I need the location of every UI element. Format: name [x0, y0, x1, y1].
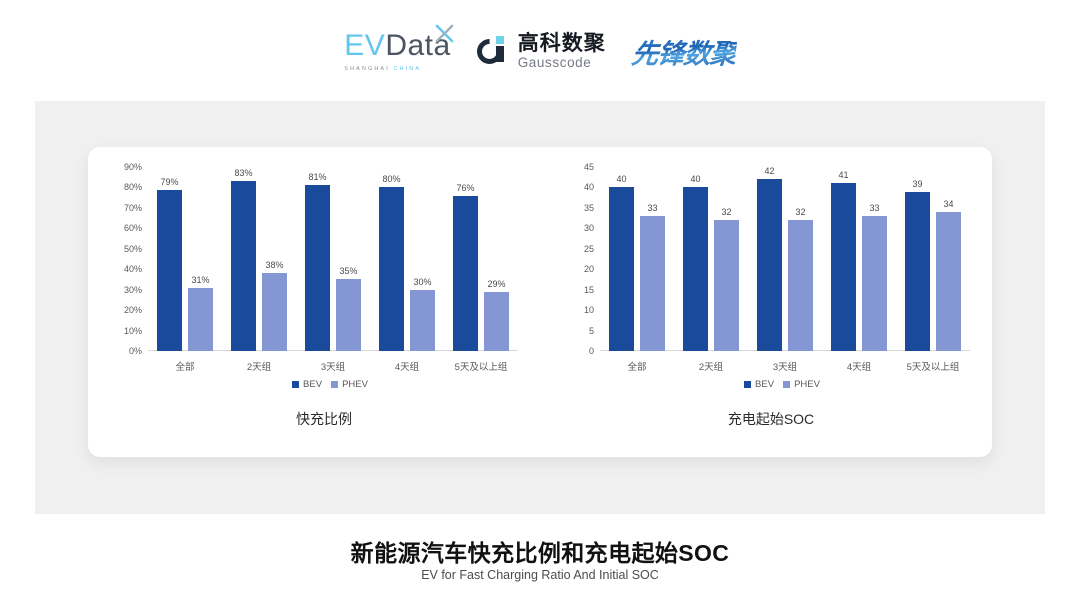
- bar-rect: [379, 187, 404, 351]
- bar-rect: [231, 181, 256, 351]
- legend-swatch-phev-icon: [331, 381, 338, 388]
- bar-phev[interactable]: 32: [788, 167, 813, 351]
- plot-area-left: 快充占比 79%31%83%38%81%35%80%30%76%29% 90%8…: [148, 167, 518, 351]
- chart-title-left: 快充比例: [88, 409, 540, 429]
- x-axis-tick: 5天及以上组: [444, 359, 518, 373]
- bar-value-label: 34: [943, 199, 953, 209]
- gausscode-chinese-name: 高科数聚: [518, 33, 606, 54]
- page-subtitle: EV for Fast Charging Ratio And Initial S…: [0, 568, 1080, 582]
- bar-rect: [262, 273, 287, 351]
- bar-rect: [714, 220, 739, 351]
- x-axis-tick: 3天组: [748, 359, 822, 373]
- bar-group: 3934: [896, 167, 970, 351]
- bar-group: 81%35%: [296, 167, 370, 351]
- bar-rect: [188, 288, 213, 351]
- bar-groups-right: 40334032423241333934: [600, 167, 970, 351]
- x-axis-ticks-right: 全部2天组3天组4天组5天及以上组: [600, 359, 970, 373]
- bar-value-label: 41: [838, 170, 848, 180]
- bar-value-label: 83%: [234, 168, 252, 178]
- bar-value-label: 33: [647, 203, 657, 213]
- logo-bar: EVData SHANGHAI CHINA 高科数聚 Gausscode 先锋数…: [0, 22, 1080, 80]
- bar-group: 4232: [748, 167, 822, 351]
- evdata-tagline-city: SHANGHAI: [344, 66, 390, 72]
- bar-value-label: 30%: [413, 277, 431, 287]
- bar-rect: [905, 192, 930, 351]
- y-axis-tick: 10%: [124, 326, 142, 336]
- legend-swatch-bev-icon: [292, 381, 299, 388]
- legend-label-bev: BEV: [303, 379, 322, 390]
- x-axis-tick: 4天组: [822, 359, 896, 373]
- y-axis-tick: 30%: [124, 285, 142, 295]
- x-axis-tick: 4天组: [370, 359, 444, 373]
- chart-card: 快充占比 79%31%83%38%81%35%80%30%76%29% 90%8…: [88, 147, 992, 457]
- gausscode-c-mark-icon: [477, 36, 511, 66]
- bar-bev[interactable]: 81%: [305, 167, 330, 351]
- y-axis-tick: 5: [589, 326, 594, 336]
- xianfeng-logo: 先锋数聚: [630, 32, 738, 71]
- bar-value-label: 81%: [308, 172, 326, 182]
- bar-phev[interactable]: 33: [862, 167, 887, 351]
- bar-value-label: 33: [869, 203, 879, 213]
- y-axis-tick: 60%: [124, 223, 142, 233]
- x-axis-ticks-left: 全部2天组3天组4天组5天及以上组: [148, 359, 518, 373]
- chart-initial-soc: 电量（%） 40334032423241333934 4540353025201…: [540, 147, 992, 457]
- bar-bev[interactable]: 40: [683, 167, 708, 351]
- bar-rect: [336, 279, 361, 351]
- bar-rect: [410, 290, 435, 351]
- y-axis-tick: 50%: [124, 244, 142, 254]
- bar-rect: [936, 212, 961, 351]
- legend-swatch-bev-icon: [744, 381, 751, 388]
- gausscode-dark-square-icon: [496, 46, 504, 62]
- y-axis-tick: 40%: [124, 264, 142, 274]
- bar-bev[interactable]: 42: [757, 167, 782, 351]
- bar-phev[interactable]: 30%: [410, 167, 435, 351]
- y-axis-tick: 35: [584, 203, 594, 213]
- bar-rect: [862, 216, 887, 351]
- bar-value-label: 29%: [487, 279, 505, 289]
- bar-rect: [788, 220, 813, 351]
- bar-value-label: 79%: [160, 177, 178, 187]
- bar-value-label: 39: [912, 179, 922, 189]
- legend-label-phev: PHEV: [794, 379, 820, 390]
- y-axis-tick: 25: [584, 244, 594, 254]
- x-axis-tick: 全部: [148, 359, 222, 373]
- bar-group: 80%30%: [370, 167, 444, 351]
- legend-item-bev: BEV: [744, 379, 774, 390]
- evdata-wordmark: EVData: [344, 31, 450, 61]
- bar-value-label: 31%: [191, 275, 209, 285]
- bar-groups-left: 79%31%83%38%81%35%80%30%76%29%: [148, 167, 518, 351]
- bar-bev[interactable]: 76%: [453, 167, 478, 351]
- y-axis-tick: 20: [584, 264, 594, 274]
- legend-right: BEV PHEV: [540, 379, 992, 390]
- bar-value-label: 42: [764, 166, 774, 176]
- bar-group: 4032: [674, 167, 748, 351]
- bar-rect: [683, 187, 708, 351]
- x-axis-tick: 3天组: [296, 359, 370, 373]
- legend-left: BEV PHEV: [88, 379, 540, 390]
- y-axis-tick: 45: [584, 162, 594, 172]
- legend-item-phev: PHEV: [783, 379, 820, 390]
- bar-rect: [484, 292, 509, 351]
- legend-item-phev: PHEV: [331, 379, 368, 390]
- bar-value-label: 76%: [456, 183, 474, 193]
- bar-group: 4133: [822, 167, 896, 351]
- bar-value-label: 40: [690, 174, 700, 184]
- gausscode-logo: 高科数聚 Gausscode: [477, 33, 606, 70]
- bar-phev[interactable]: 29%: [484, 167, 509, 351]
- bar-value-label: 32: [721, 207, 731, 217]
- bar-value-label: 40: [616, 174, 626, 184]
- gausscode-accent-square-icon: [496, 36, 504, 44]
- bar-phev[interactable]: 34: [936, 167, 961, 351]
- bar-value-label: 32: [795, 207, 805, 217]
- bar-phev[interactable]: 35%: [336, 167, 361, 351]
- evdata-tagline-country: CHINA: [393, 66, 421, 72]
- y-axis-tick: 30: [584, 223, 594, 233]
- bar-bev[interactable]: 39: [905, 167, 930, 351]
- gausscode-wordmark: 高科数聚 Gausscode: [518, 33, 606, 70]
- y-axis-tick: 15: [584, 285, 594, 295]
- chart-fast-charging-ratio: 快充占比 79%31%83%38%81%35%80%30%76%29% 90%8…: [88, 147, 540, 457]
- bar-bev[interactable]: 83%: [231, 167, 256, 351]
- bar-group: 76%29%: [444, 167, 518, 351]
- bar-bev[interactable]: 80%: [379, 167, 404, 351]
- bar-bev[interactable]: 40: [609, 167, 634, 351]
- y-axis-tick: 0%: [129, 346, 142, 356]
- x-axis-tick: 2天组: [674, 359, 748, 373]
- bar-value-label: 80%: [382, 174, 400, 184]
- bar-bev[interactable]: 79%: [157, 167, 182, 351]
- legend-item-bev: BEV: [292, 379, 322, 390]
- bar-group: 83%38%: [222, 167, 296, 351]
- x-axis-tick: 5天及以上组: [896, 359, 970, 373]
- bar-rect: [831, 183, 856, 351]
- bar-bev[interactable]: 41: [831, 167, 856, 351]
- bar-rect: [453, 196, 478, 351]
- evdata-tagline: SHANGHAI CHINA: [344, 66, 421, 72]
- y-axis-tick: 40: [584, 182, 594, 192]
- bar-rect: [305, 185, 330, 351]
- bar-phev[interactable]: 31%: [188, 167, 213, 351]
- bar-rect: [157, 190, 182, 352]
- chart-title-right: 充电起始SOC: [540, 409, 992, 429]
- y-axis-tick: 20%: [124, 305, 142, 315]
- bar-rect: [640, 216, 665, 351]
- x-axis-tick: 2天组: [222, 359, 296, 373]
- legend-label-bev: BEV: [755, 379, 774, 390]
- bar-phev[interactable]: 32: [714, 167, 739, 351]
- gausscode-english-name: Gausscode: [518, 56, 606, 70]
- legend-label-phev: PHEV: [342, 379, 368, 390]
- evdata-logo: EVData SHANGHAI CHINA: [344, 31, 450, 72]
- x-axis-tick: 全部: [600, 359, 674, 373]
- y-axis-tick: 10: [584, 305, 594, 315]
- legend-swatch-phev-icon: [783, 381, 790, 388]
- y-axis-tick: 70%: [124, 203, 142, 213]
- bar-rect: [609, 187, 634, 351]
- y-axis-tick: 0: [589, 346, 594, 356]
- page-title: 新能源汽车快充比例和充电起始SOC: [0, 534, 1080, 568]
- evdata-ev-text: EV: [344, 29, 385, 62]
- y-axis-tick: 90%: [124, 162, 142, 172]
- bar-rect: [757, 179, 782, 351]
- bar-group: 79%31%: [148, 167, 222, 351]
- x-mark-icon: [435, 24, 454, 43]
- bar-phev[interactable]: 33: [640, 167, 665, 351]
- plot-area-right: 电量（%） 40334032423241333934 4540353025201…: [600, 167, 970, 351]
- bar-group: 4033: [600, 167, 674, 351]
- bar-value-label: 35%: [339, 266, 357, 276]
- y-axis-tick: 80%: [124, 182, 142, 192]
- bar-phev[interactable]: 38%: [262, 167, 287, 351]
- bar-value-label: 38%: [265, 260, 283, 270]
